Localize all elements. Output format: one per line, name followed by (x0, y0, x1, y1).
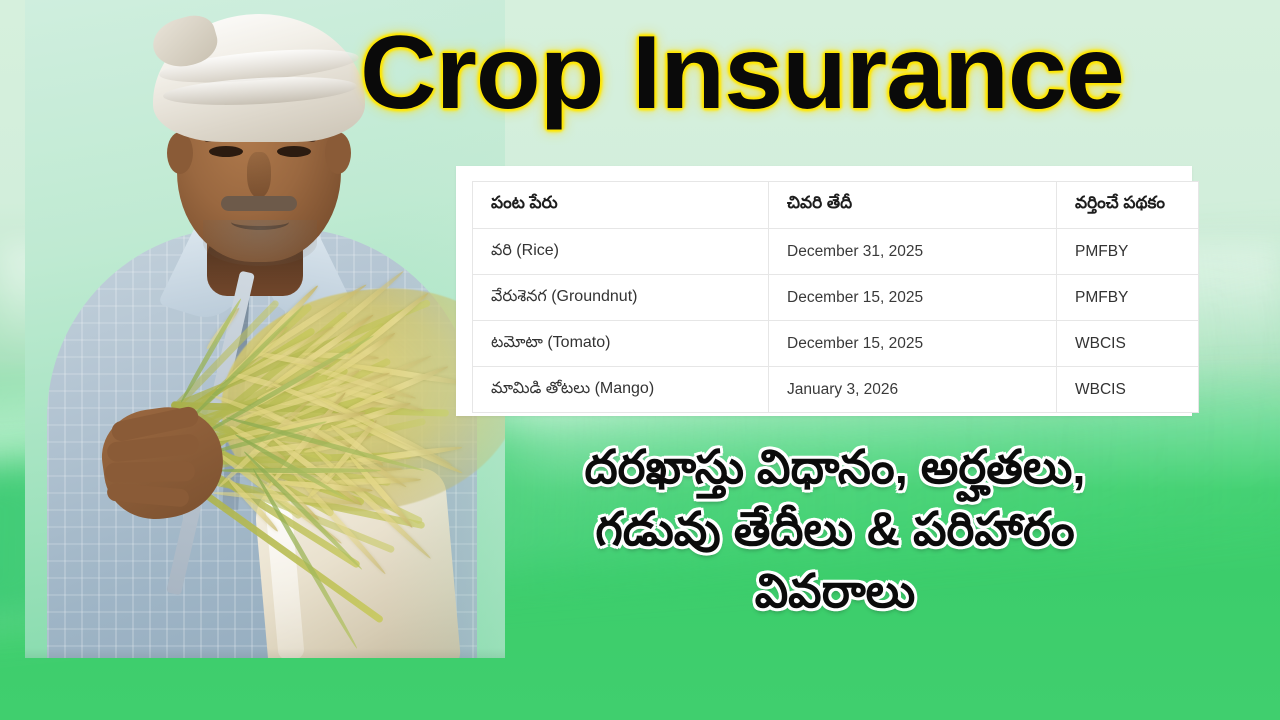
cell-deadline: December 15, 2025 (769, 275, 1057, 321)
crop-deadline-table-card: పంట పేరు చివరి తేదీ వర్తించే పథకం వరి (R… (456, 166, 1192, 416)
eye-left (209, 146, 243, 157)
cell-crop: వేరుశెనగ (Groundnut) (473, 275, 769, 321)
moustache (221, 196, 297, 211)
cell-deadline: December 31, 2025 (769, 229, 1057, 275)
subtitle-line-1: దరఖాస్తు విధానం, అర్హతలు, (430, 436, 1240, 498)
page-title: Crop Insurance (360, 14, 1237, 132)
finger-3 (105, 461, 195, 483)
ear-right (325, 132, 351, 174)
cell-crop: మామిడి తోటలు (Mango) (473, 367, 769, 413)
subtitle-line-2: గడువు తేదీలు & పరిహారం (430, 498, 1240, 560)
cell-deadline: December 15, 2025 (769, 321, 1057, 367)
nose (247, 152, 271, 198)
cell-crop: టమోటా (Tomato) (473, 321, 769, 367)
table-row: మామిడి తోటలు (Mango) January 3, 2026 WBC… (473, 367, 1199, 413)
banner-canvas: Crop Insurance పంట పేరు చివరి తేదీ వర్తి… (0, 0, 1280, 720)
crop-deadline-table: పంట పేరు చివరి తేదీ వర్తించే పథకం వరి (R… (472, 181, 1199, 413)
table-row: వేరుశెనగ (Groundnut) December 15, 2025 P… (473, 275, 1199, 321)
photo-bottom-fade (25, 648, 505, 658)
cell-crop: వరి (Rice) (473, 229, 769, 275)
eye-right (277, 146, 311, 157)
cell-scheme: PMFBY (1057, 229, 1199, 275)
column-header-scheme: వర్తించే పథకం (1057, 182, 1199, 229)
cell-deadline: January 3, 2026 (769, 367, 1057, 413)
cell-scheme: WBCIS (1057, 367, 1199, 413)
table-row: టమోటా (Tomato) December 15, 2025 WBCIS (473, 321, 1199, 367)
subtitle-line-3: వివరాలు (430, 560, 1240, 622)
column-header-crop: పంట పేరు (473, 182, 769, 229)
table-header-row: పంట పేరు చివరి తేదీ వర్తించే పథకం (473, 182, 1199, 229)
ear-left (167, 132, 193, 174)
cell-scheme: PMFBY (1057, 275, 1199, 321)
subtitle-block: దరఖాస్తు విధానం, అర్హతలు, గడువు తేదీలు &… (430, 436, 1240, 622)
column-header-deadline: చివరి తేదీ (769, 182, 1057, 229)
table-row: వరి (Rice) December 31, 2025 PMFBY (473, 229, 1199, 275)
cell-scheme: WBCIS (1057, 321, 1199, 367)
